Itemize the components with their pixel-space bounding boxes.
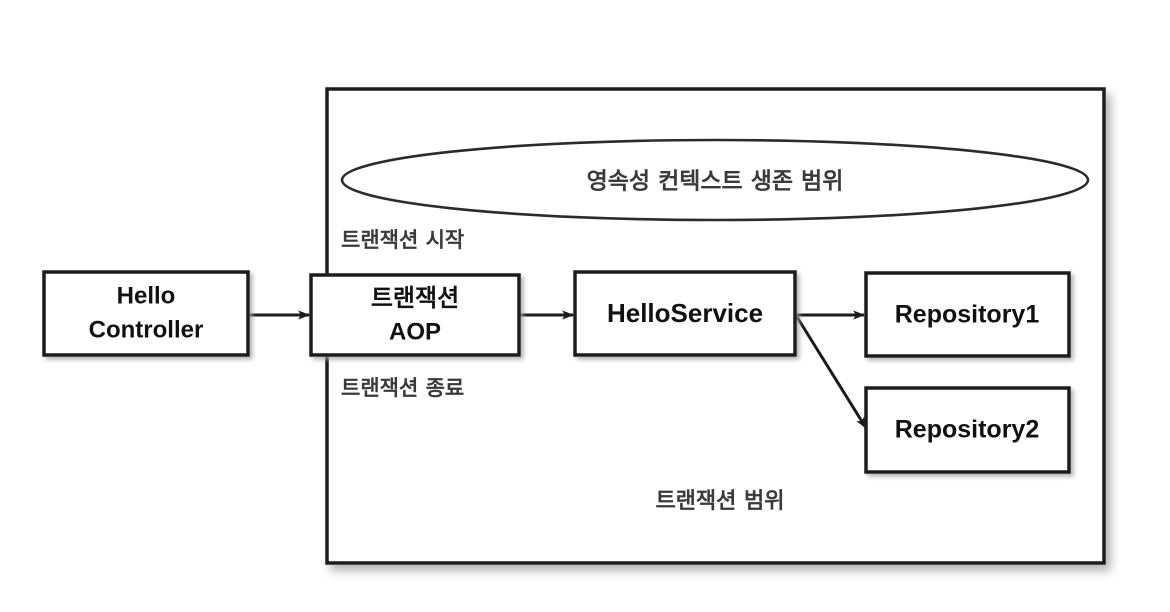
box-hello-service-label: HelloService [607, 298, 763, 328]
box-repository2[interactable]: Repository2 [866, 388, 1069, 472]
box-hello-service[interactable]: HelloService [575, 272, 795, 355]
box-transaction-aop-line1: 트랜잭션 [371, 284, 459, 312]
transaction-scope-label: 트랜잭션 범위 [655, 489, 784, 514]
box-repository2-label: Repository2 [895, 416, 1039, 444]
box-transaction-aop[interactable]: 트랜잭션 AOP [311, 275, 519, 355]
diagram-svg: 영속성 컨텍스트 생존 범위 트랜잭션 시작 트랜잭션 종료 트랜잭션 범위 H… [0, 0, 1170, 612]
diagram-canvas: 영속성 컨텍스트 생존 범위 트랜잭션 시작 트랜잭션 종료 트랜잭션 범위 H… [0, 0, 1170, 612]
box-repository1-label: Repository1 [895, 301, 1040, 329]
persistence-context-label: 영속성 컨텍스트 생존 범위 [587, 169, 844, 195]
box-repository1[interactable]: Repository1 [866, 273, 1069, 356]
box-hello-controller-line1: Hello [117, 282, 176, 309]
box-hello-controller-line2: Controller [89, 316, 204, 343]
transaction-begin-label: 트랜잭션 시작 [341, 228, 464, 252]
box-transaction-aop-line2: AOP [389, 318, 441, 345]
box-hello-controller[interactable]: Hello Controller [44, 272, 248, 355]
transaction-end-label: 트랜잭션 종료 [341, 376, 464, 400]
